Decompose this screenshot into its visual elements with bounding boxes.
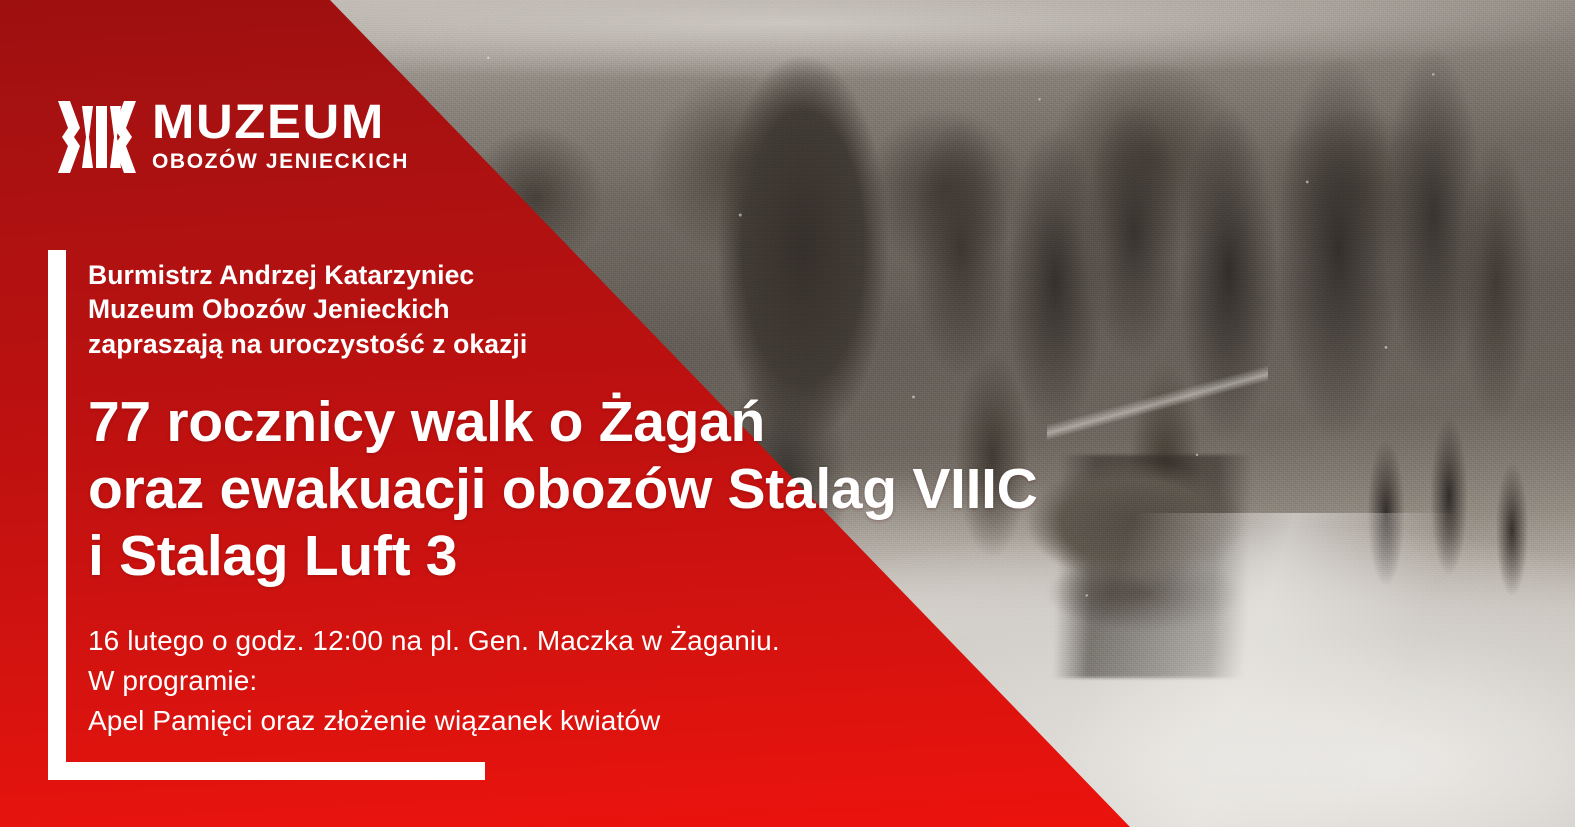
headline-line-3: i Stalag Luft 3 [88, 523, 1148, 590]
details-line-3: Apel Pamięci oraz złożenie wiązanek kwia… [88, 701, 1148, 741]
details-line-1: 16 lutego o godz. 12:00 na pl. Gen. Macz… [88, 621, 1148, 661]
barbed-wire-barracks-mark-icon [56, 98, 138, 181]
headline-line-1: 77 rocznicy walk o Żagań [88, 389, 1148, 456]
museum-logo-subtitle: OBOZÓW JENIECKICH [152, 151, 409, 172]
details-line-2: W programie: [88, 661, 1148, 701]
museum-logo-wordmark: MUZEUM OBOZÓW JENIECKICH [152, 100, 409, 172]
invitation-line-2: Muzeum Obozów Jenieckich [88, 292, 1148, 326]
event-details: 16 lutego o godz. 12:00 na pl. Gen. Macz… [88, 621, 1148, 740]
event-headline: 77 rocznicy walk o Żagań oraz ewakuacji … [88, 389, 1148, 589]
invitation-intro: Burmistrz Andrzej Katarzyniec Muzeum Obo… [88, 258, 1148, 361]
headline-line-2: oraz ewakuacji obozów Stalag VIIIC [88, 456, 1148, 523]
event-poster: MUZEUM OBOZÓW JENIECKICH Burmistrz Andrz… [0, 0, 1575, 827]
invitation-line-1: Burmistrz Andrzej Katarzyniec [88, 258, 1148, 292]
museum-logo: MUZEUM OBOZÓW JENIECKICH [56, 98, 409, 181]
poster-copy: Burmistrz Andrzej Katarzyniec Muzeum Obo… [88, 258, 1148, 741]
invitation-line-3: zapraszają na uroczystość z okazji [88, 327, 1148, 361]
museum-logo-title: MUZEUM [152, 100, 424, 145]
